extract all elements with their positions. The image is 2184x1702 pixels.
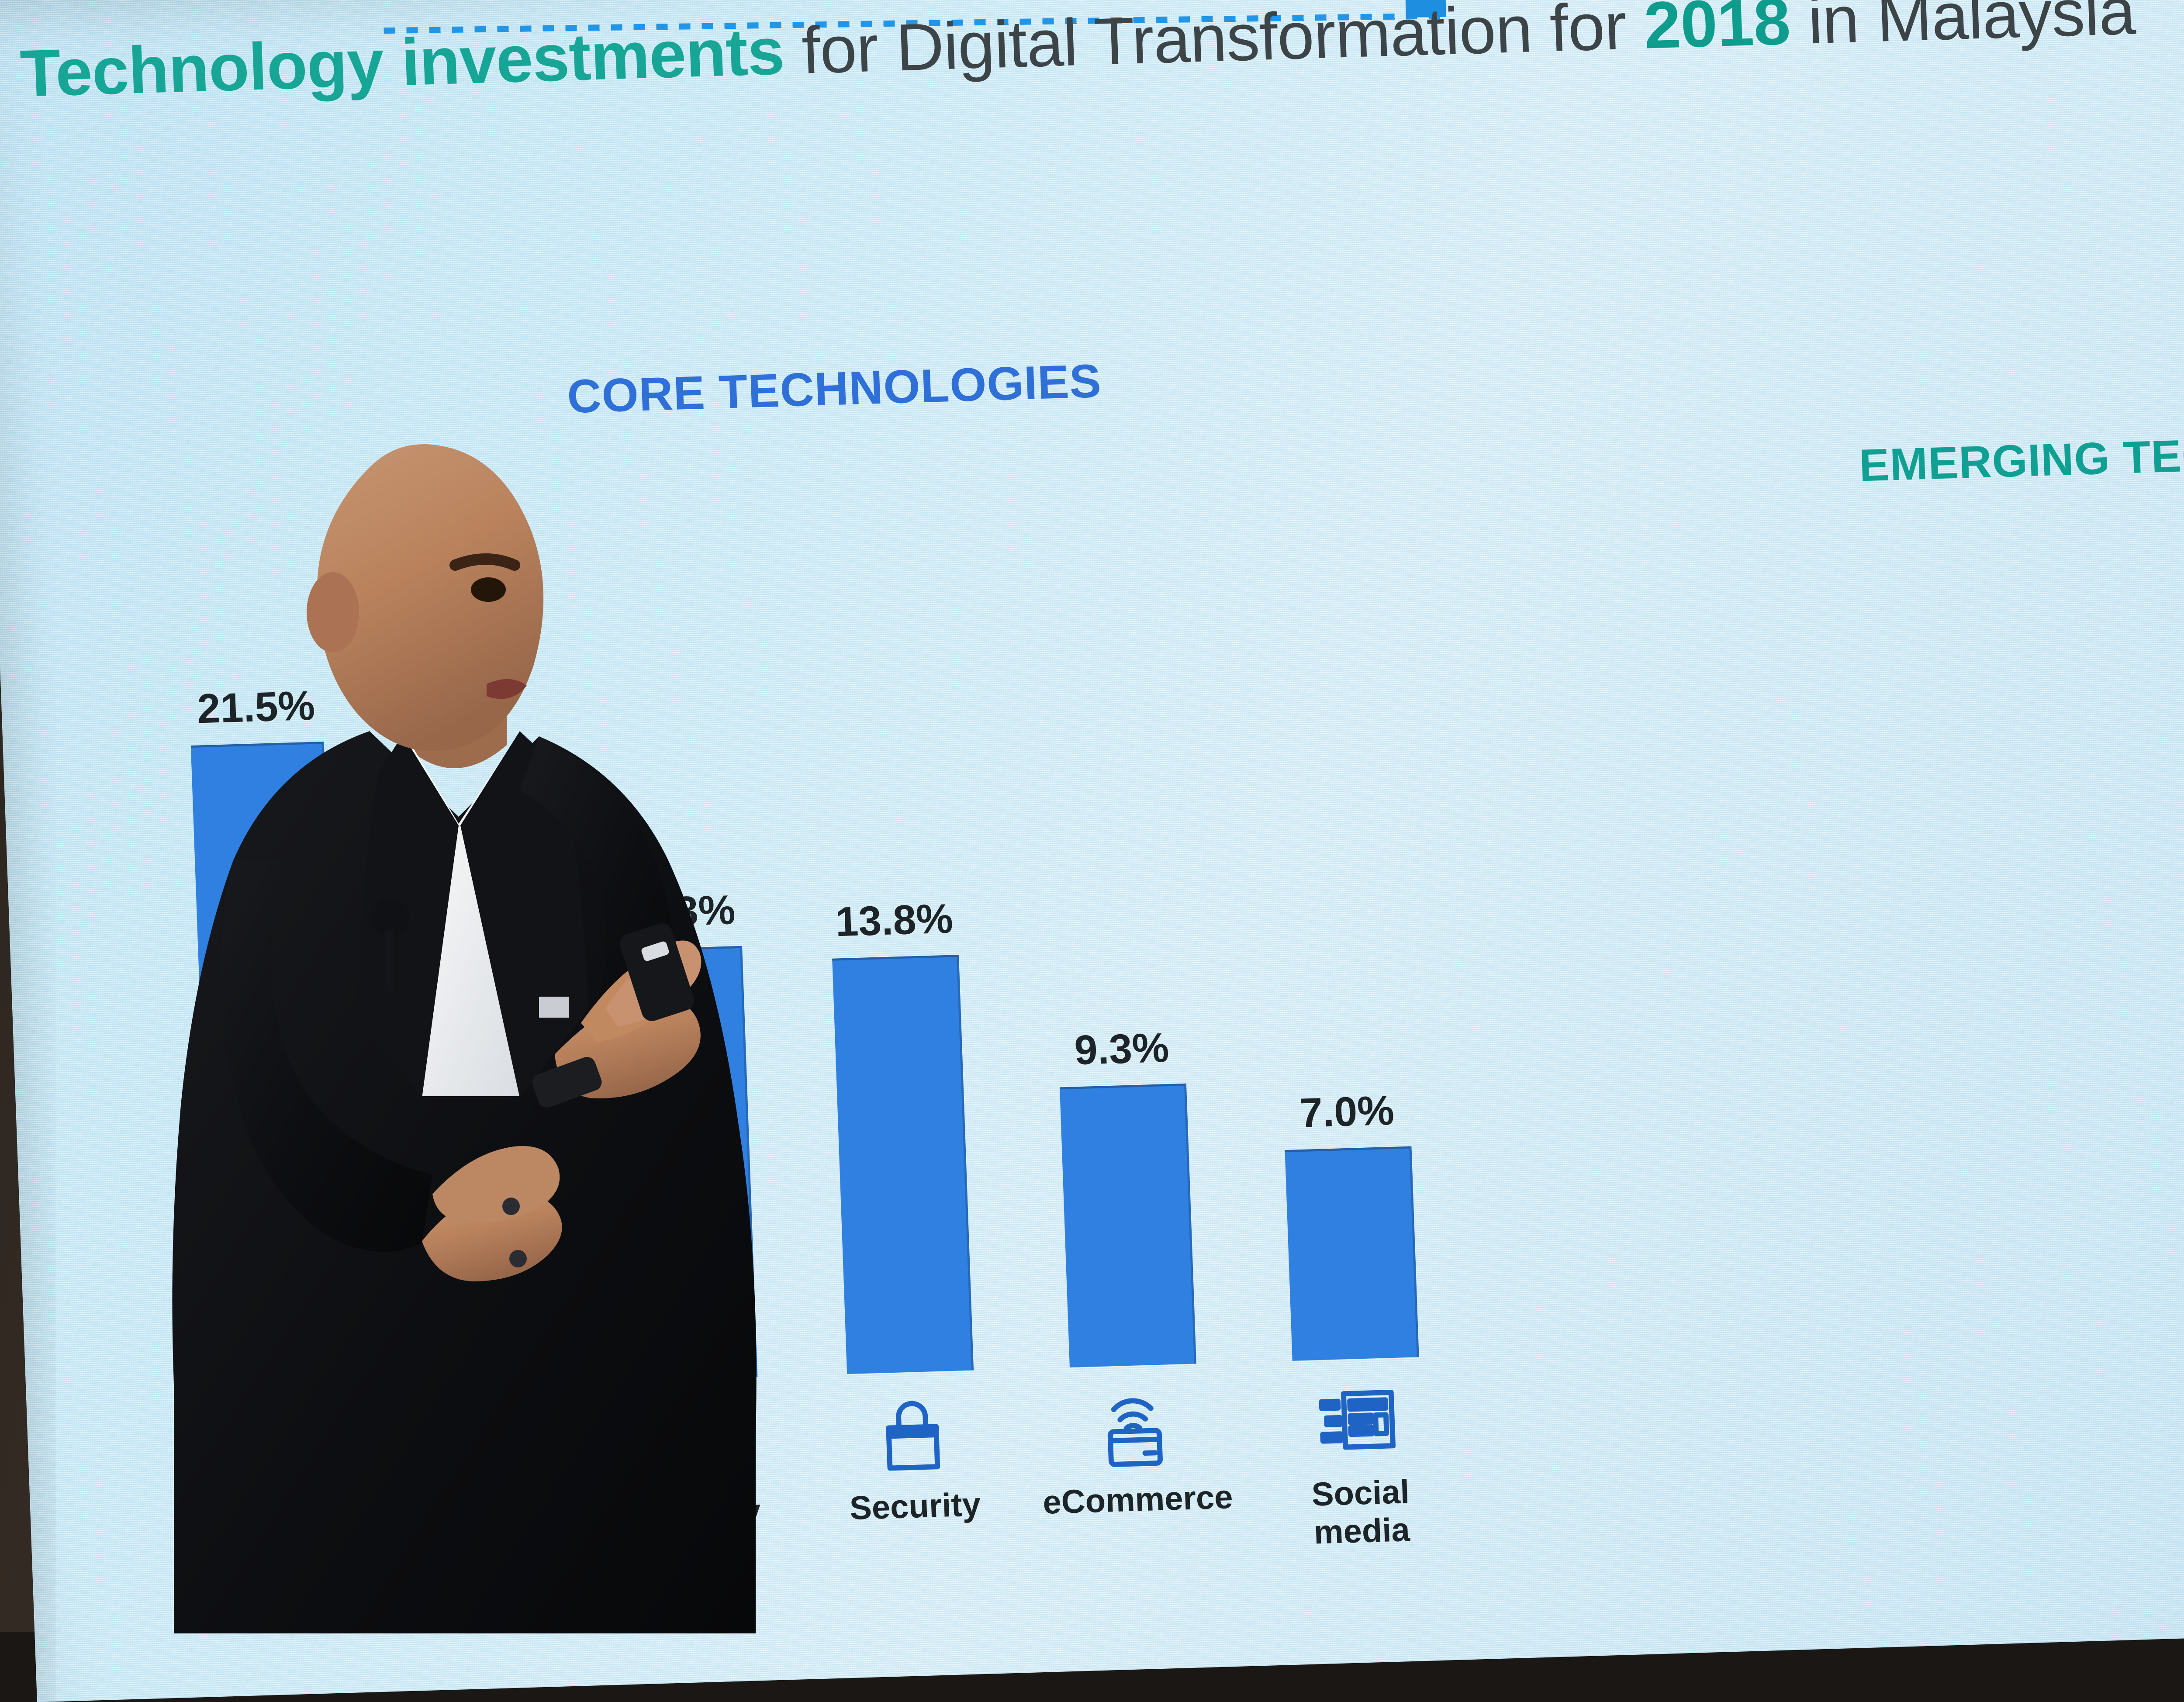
bar-value-label: 13.8% [835, 895, 954, 946]
chart-bar [1060, 1084, 1196, 1367]
title-tail: in Malaysia [1789, 0, 2136, 59]
bar-column: 9.3%eCommerce [1045, 674, 1196, 1367]
social-feed-icon [1310, 1374, 1406, 1466]
bar-column: 7.0%Social media [1268, 667, 1419, 1361]
contactless-card-icon [1087, 1381, 1184, 1472]
section-heading-core-technologies: CORE TECHNOLOGIES [566, 283, 2184, 424]
page-title: Technology investments for Digital Trans… [19, 0, 2184, 112]
padlock-icon [864, 1388, 961, 1479]
category-label: eCommerce [1023, 1478, 1252, 1522]
chart-bar [832, 955, 974, 1374]
chart-bar [1285, 1146, 1419, 1361]
title-accent: Technology investments [19, 14, 785, 111]
bar-value-label: 9.3% [1074, 1024, 1170, 1074]
presenter-silhouette [144, 406, 852, 1633]
category-label: Social media [1246, 1471, 1476, 1554]
title-middle: for Digital Transformation for [783, 0, 1645, 88]
bar-value-label: 7.0% [1299, 1087, 1395, 1137]
title-year: 2018 [1643, 0, 1791, 63]
